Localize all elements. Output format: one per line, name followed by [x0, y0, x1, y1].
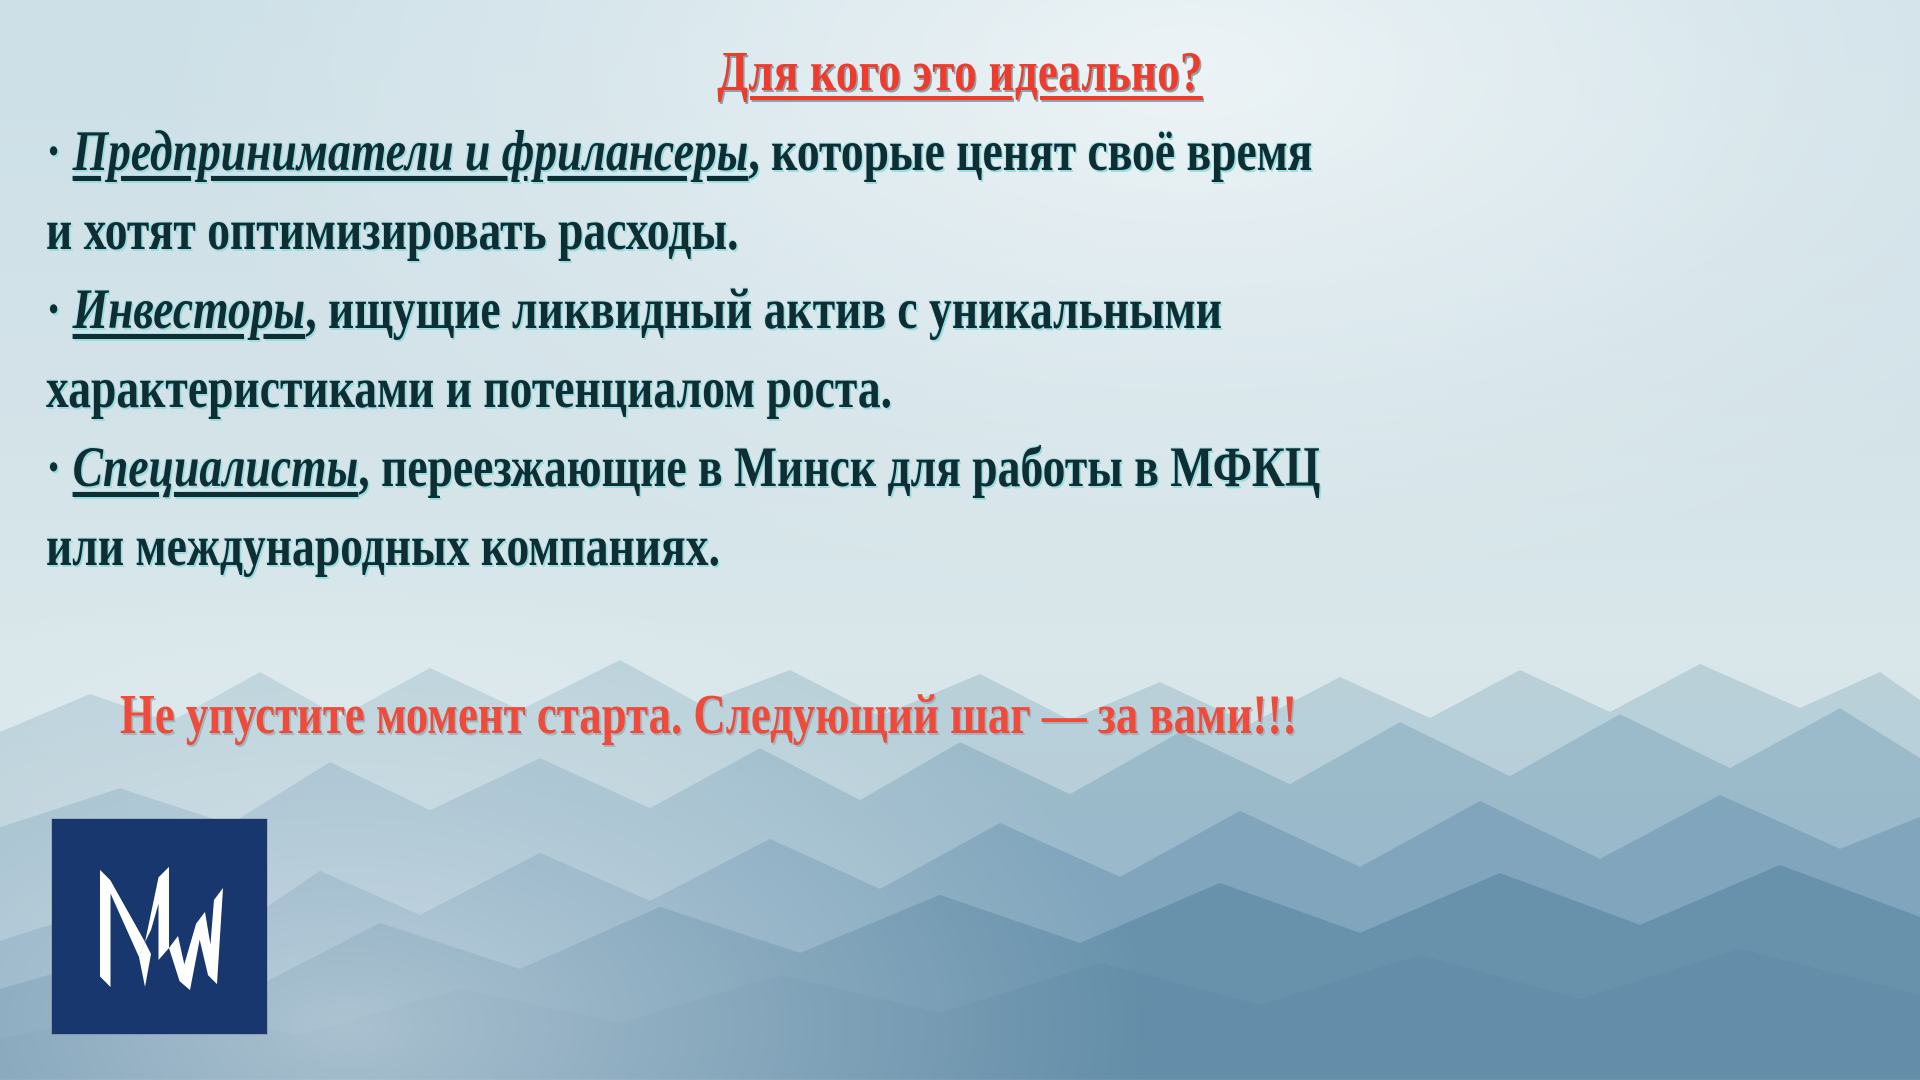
bullet-item-3-line-2: или международных компаниях. [46, 507, 1518, 586]
bullet-item-2-line-1: · Инвесторы, ищущие ликвидный актив с ун… [46, 270, 1518, 349]
mw-logo [52, 819, 267, 1034]
bullet-item-3-line-1: · Специалисты, переезжающие в Минск для … [46, 428, 1518, 507]
bullet-rest: , которые ценят своё время [748, 120, 1312, 183]
bullet-rest: , переезжающие в Минск для работы в МФКЦ [358, 436, 1320, 499]
slide-title-text: Для кого это идеально? [717, 41, 1203, 103]
mw-monogram-icon [85, 852, 235, 1002]
bullet-marker: · [46, 120, 61, 183]
call-to-action-text: Не упустите момент старта. Следующий шаг… [120, 680, 1297, 750]
bullet-list: · Предприниматели и фрилансеры, которые … [46, 112, 1886, 586]
slide-title: Для кого это идеально? [192, 40, 1728, 104]
bullet-item-1-line-2: и хотят оптимизировать расходы. [46, 191, 1518, 270]
bullet-item-2-line-2: характеристиками и потенциалом роста. [46, 349, 1518, 428]
slide-canvas: Для кого это идеально? · Предприниматели… [0, 0, 1920, 1080]
bullet-item-1-line-1: · Предприниматели и фрилансеры, которые … [46, 112, 1518, 191]
slide-content: Для кого это идеально? · Предприниматели… [0, 0, 1920, 1080]
bullet-rest: , ищущие ликвидный актив с уникальными [305, 278, 1222, 341]
bullet-marker: · [46, 278, 61, 341]
bullet-marker: · [46, 436, 61, 499]
bullet-emphasis: Инвесторы [73, 278, 306, 341]
bullet-emphasis: Предприниматели и фрилансеры [73, 120, 749, 183]
bullet-emphasis: Специалисты [73, 436, 359, 499]
